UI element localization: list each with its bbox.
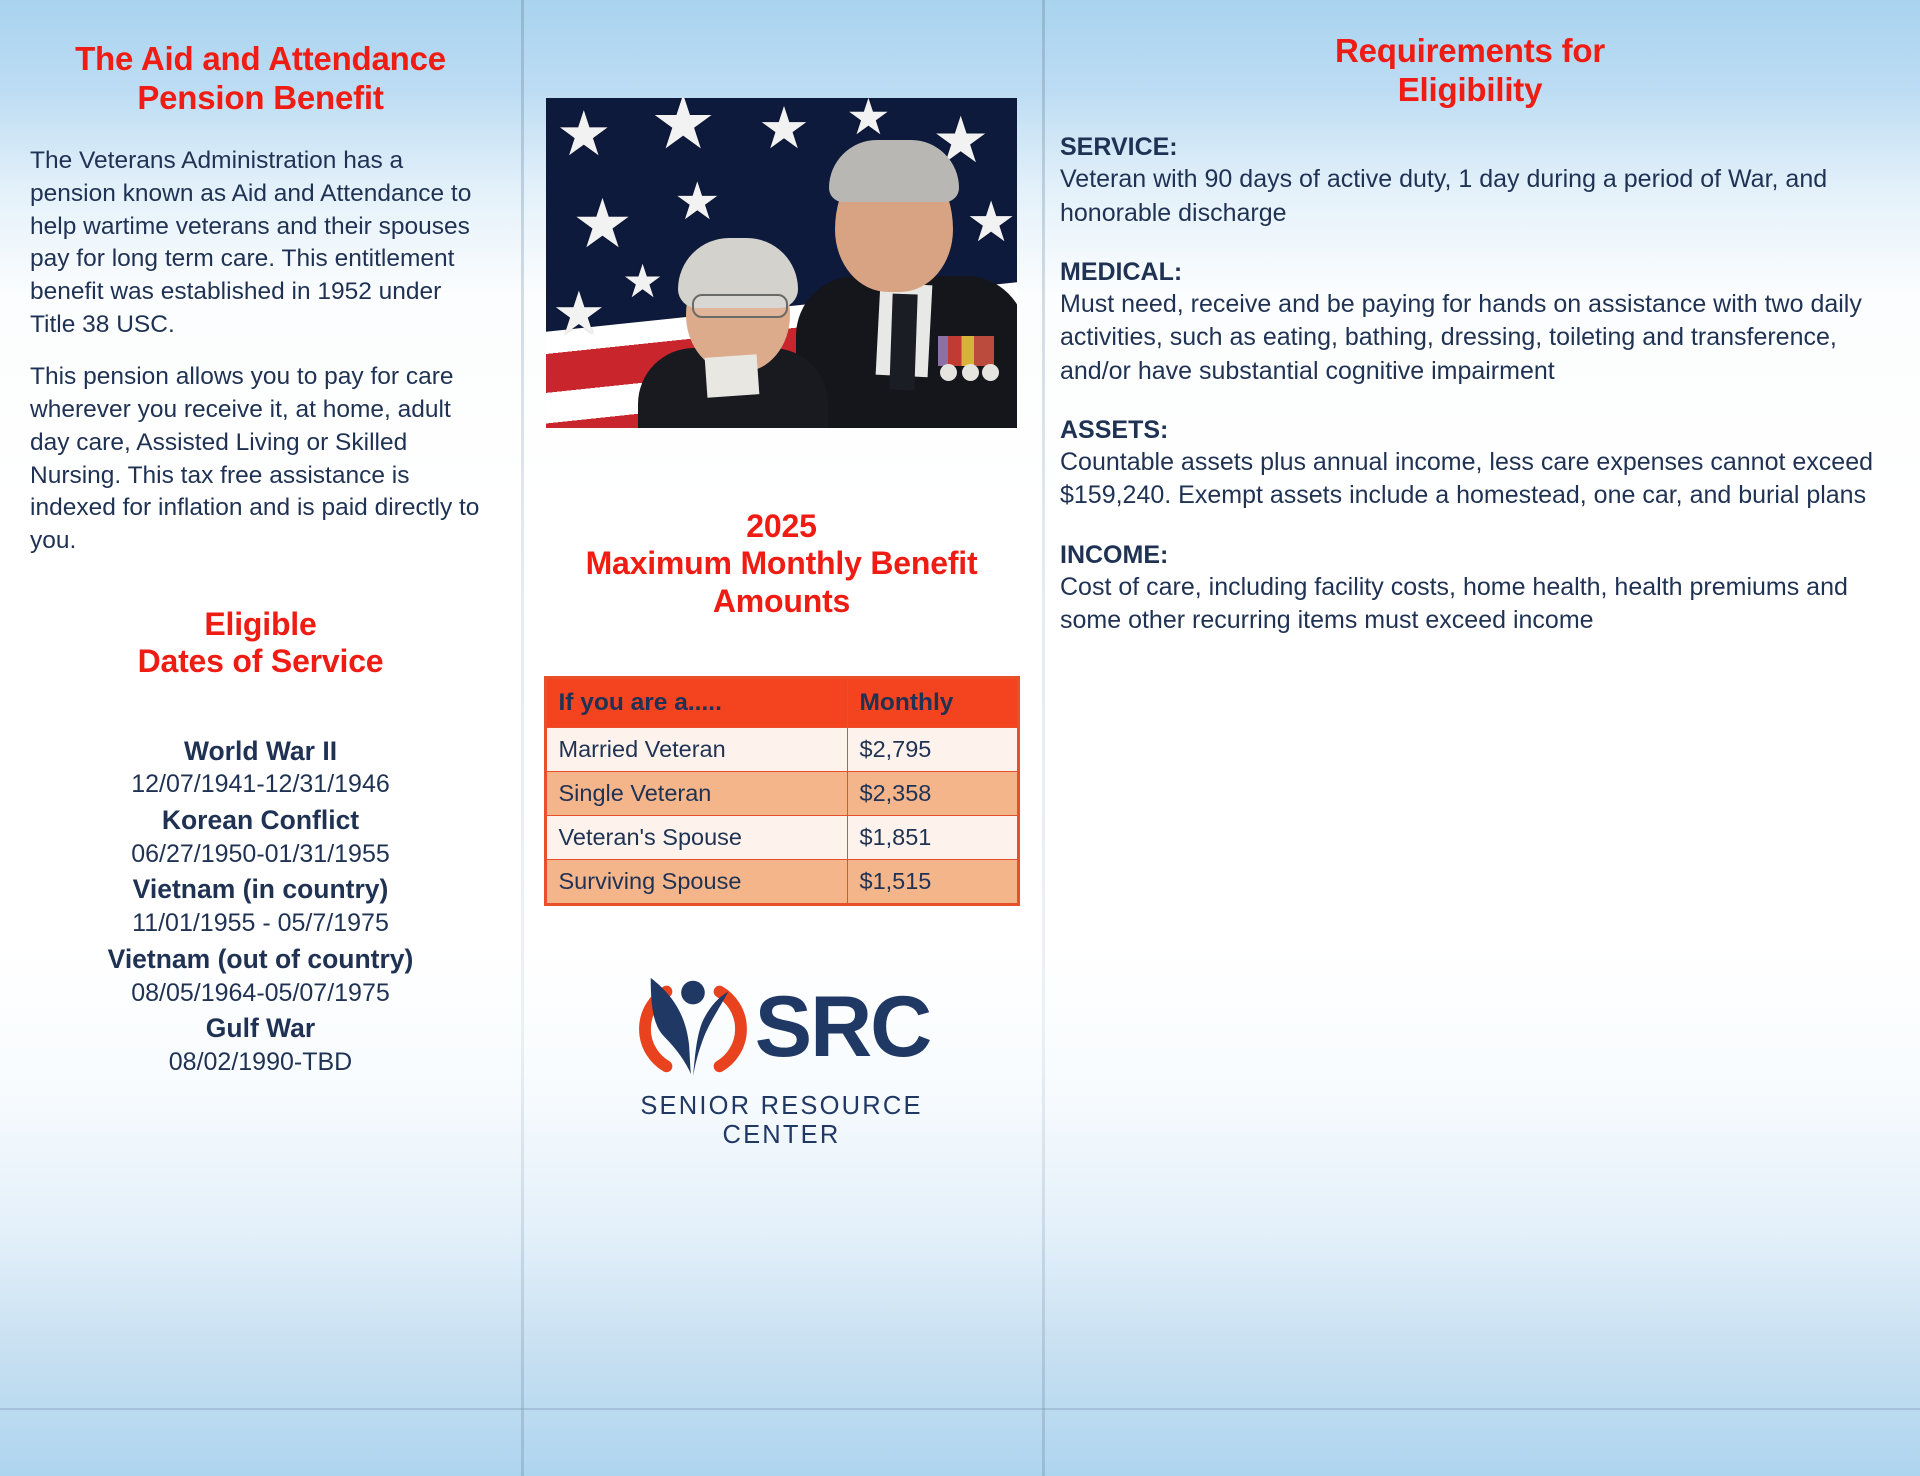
eligible-title-line1: Eligible (30, 606, 491, 643)
medal-disc-icon (962, 364, 979, 381)
service-periods-list: World War II 12/07/1941-12/31/1946 Korea… (30, 735, 491, 1079)
requirement-assets: ASSETS: Countable assets plus annual inc… (1060, 414, 1880, 513)
war-name: Gulf War (30, 1012, 491, 1046)
src-logo-mark-icon (633, 968, 751, 1086)
war-dates: 08/05/1964-05/07/1975 (30, 977, 491, 1010)
table-cell-category: Married Veteran (546, 728, 847, 772)
flag-star-icon: ★ (622, 258, 663, 304)
requirement-medical: MEDICAL: Must need, receive and be payin… (1060, 256, 1880, 388)
left-panel-title: The Aid and Attendance Pension Benefit (30, 0, 491, 117)
table-row: Surviving Spouse $1,515 (546, 860, 1017, 904)
flag-star-icon: ★ (966, 194, 1016, 250)
left-paragraph-1: The Veterans Administration has a pensio… (30, 145, 491, 341)
table-cell-category: Single Veteran (546, 772, 847, 816)
bottom-edge-line (0, 1408, 1920, 1410)
eligible-dates-title: Eligible Dates of Service (30, 578, 491, 681)
table-header-monthly: Monthly (847, 679, 1017, 728)
flag-star-icon: ★ (758, 100, 810, 158)
table-cell-monthly: $2,795 (847, 728, 1017, 772)
flag-star-icon: ★ (552, 284, 606, 344)
veteran-couple-photo: ★ ★ ★ ★ ★ ★ ★ ★ ★ ★ (546, 98, 1017, 428)
benefit-amounts-table: If you are a..... Monthly Married Vetera… (546, 678, 1018, 904)
eyeglasses-icon (692, 294, 788, 318)
panel-right: Requirements for Eligibility SERVICE: Ve… (1042, 0, 1920, 1476)
benefit-amounts-title: 2025 Maximum Monthly Benefit Amounts (543, 508, 1020, 620)
src-logo-acronym: SRC (755, 984, 931, 1070)
right-title-line1: Requirements for (1060, 32, 1880, 71)
war-name: Korean Conflict (30, 804, 491, 838)
spouse-collar (705, 354, 760, 398)
table-cell-category: Surviving Spouse (546, 860, 847, 904)
war-dates: 11/01/1955 - 05/7/1975 (30, 907, 491, 940)
flag-star-icon: ★ (572, 190, 633, 258)
war-name: Vietnam (out of country) (30, 943, 491, 977)
war-dates: 06/27/1950-01/31/1955 (30, 838, 491, 871)
left-paragraph-2: This pension allows you to pay for care … (30, 361, 491, 557)
table-cell-category: Veteran's Spouse (546, 816, 847, 860)
veteran-hair (829, 140, 959, 202)
requirement-label: SERVICE: (1060, 131, 1880, 163)
flag-star-icon: ★ (556, 104, 612, 166)
flag-star-icon: ★ (650, 98, 716, 160)
table-cell-monthly: $2,358 (847, 772, 1017, 816)
requirement-text: Veteran with 90 days of active duty, 1 d… (1060, 163, 1880, 230)
benefit-title-year: 2025 (543, 508, 1020, 545)
right-panel-title: Requirements for Eligibility (1060, 0, 1880, 109)
requirement-text: Cost of care, including facility costs, … (1060, 571, 1880, 638)
table-row: Single Veteran $2,358 (546, 772, 1017, 816)
table-header-category: If you are a..... (546, 679, 847, 728)
requirement-label: MEDICAL: (1060, 256, 1880, 288)
left-title-line2: Pension Benefit (30, 79, 491, 118)
requirement-income: INCOME: Cost of care, including facility… (1060, 539, 1880, 638)
right-title-line2: Eligibility (1060, 71, 1880, 110)
medal-disc-icon (982, 364, 999, 381)
panel-center: ★ ★ ★ ★ ★ ★ ★ ★ ★ ★ 2025 (521, 0, 1042, 1476)
benefit-amounts-table-wrapper: If you are a..... Monthly Married Vetera… (544, 676, 1020, 906)
war-name: Vietnam (in country) (30, 873, 491, 907)
requirement-service: SERVICE: Veteran with 90 days of active … (1060, 131, 1880, 230)
table-cell-monthly: $1,515 (847, 860, 1017, 904)
war-name: World War II (30, 735, 491, 769)
panel-left: The Aid and Attendance Pension Benefit T… (0, 0, 521, 1476)
requirement-text: Must need, receive and be paying for han… (1060, 288, 1880, 388)
requirement-label: INCOME: (1060, 539, 1880, 571)
eligible-title-line2: Dates of Service (30, 643, 491, 680)
service-medals-icon (938, 336, 994, 366)
table-row: Veteran's Spouse $1,851 (546, 816, 1017, 860)
flag-star-icon: ★ (846, 98, 891, 142)
table-header-row: If you are a..... Monthly (546, 679, 1017, 728)
brochure-page: The Aid and Attendance Pension Benefit T… (0, 0, 1920, 1476)
war-dates: 12/07/1941-12/31/1946 (30, 768, 491, 801)
src-logo-tagline: SENIOR RESOURCE CENTER (582, 1092, 982, 1150)
logo-row: SRC (582, 968, 982, 1086)
benefit-title-line3: Amounts (543, 583, 1020, 620)
medal-disc-icon (940, 364, 957, 381)
src-logo: SRC SENIOR RESOURCE CENTER (582, 968, 982, 1150)
table-cell-monthly: $1,851 (847, 816, 1017, 860)
benefit-title-line2: Maximum Monthly Benefit (543, 545, 1020, 582)
requirement-label: ASSETS: (1060, 414, 1880, 446)
left-title-line1: The Aid and Attendance (30, 40, 491, 79)
veteran-tie (889, 294, 917, 391)
flag-star-icon: ★ (674, 176, 721, 228)
table-row: Married Veteran $2,795 (546, 728, 1017, 772)
requirement-text: Countable assets plus annual income, les… (1060, 446, 1880, 513)
war-dates: 08/02/1990-TBD (30, 1046, 491, 1079)
